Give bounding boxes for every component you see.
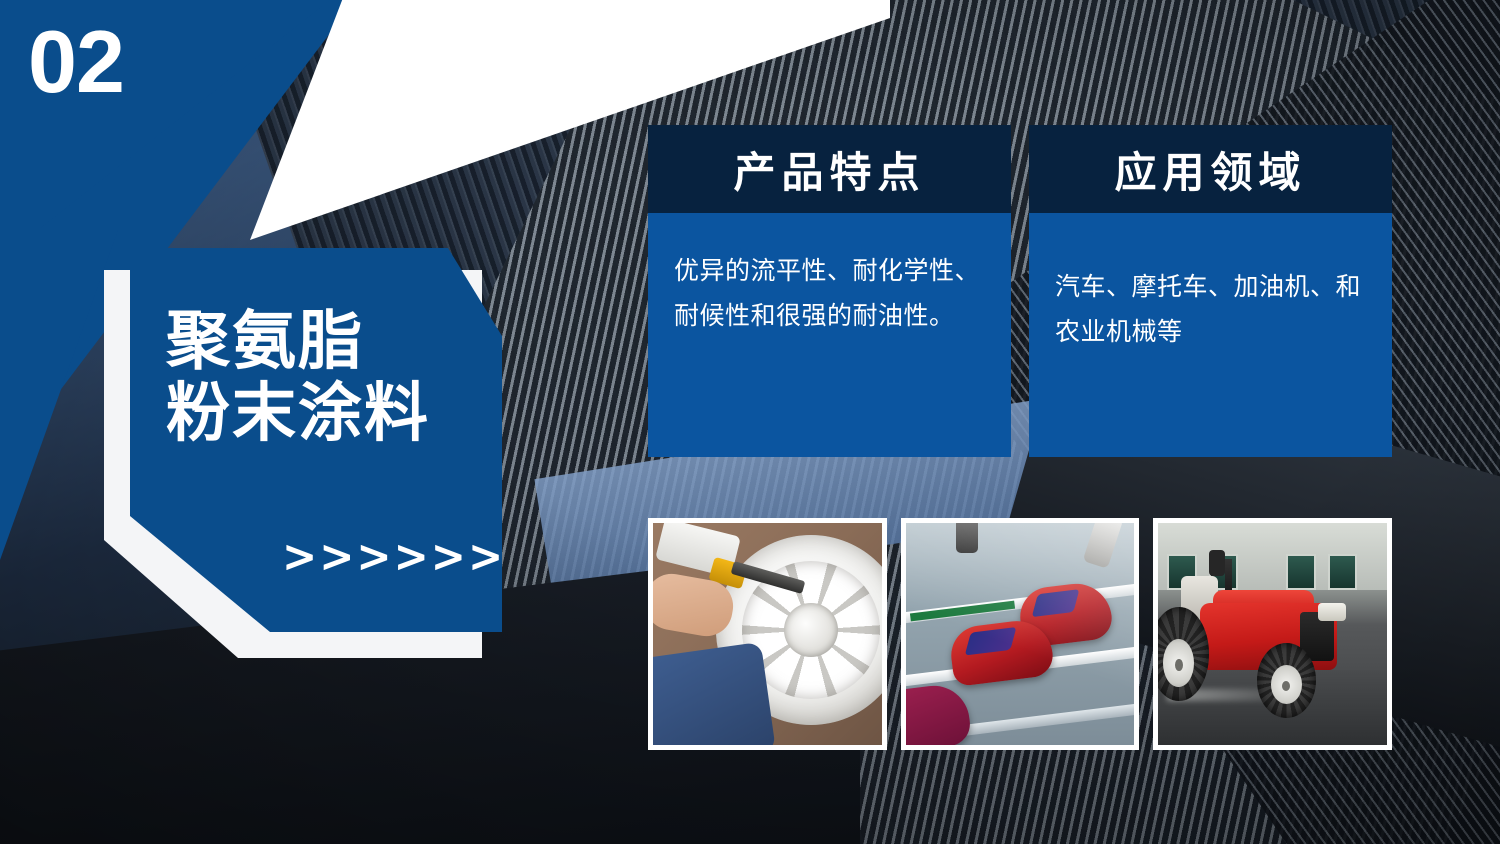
window <box>1328 554 1358 590</box>
column-header-label: 产品特点 <box>733 139 925 200</box>
info-columns: 产品特点 优异的流平性、耐化学性、耐候性和很强的耐油性。 应用领域 汽车、摩托车… <box>648 125 1392 457</box>
booth-haze <box>906 523 1135 745</box>
title-line-2: 粉末涂料 <box>166 378 486 450</box>
column-header-label: 应用领域 <box>1114 139 1306 200</box>
photo-strip <box>648 518 1392 750</box>
title-block: 聚氨脂 粉末涂料 >>>>>>>>> <box>104 248 514 658</box>
window <box>1286 554 1316 590</box>
photo-image <box>653 523 882 745</box>
info-column-application-areas: 应用领域 汽车、摩托车、加油机、和农业机械等 <box>1029 125 1392 457</box>
photo-powder-coating-alloy-wheel <box>648 518 887 750</box>
info-column-product-features: 产品特点 优异的流平性、耐化学性、耐候性和很强的耐油性。 <box>648 125 1011 457</box>
column-body-text: 汽车、摩托车、加油机、和农业机械等 <box>1055 265 1366 354</box>
photo-motorcycle-tank-coating-line <box>901 518 1140 750</box>
tractor-rim <box>1271 665 1302 704</box>
title-line-1: 聚氨脂 <box>166 305 364 377</box>
column-body-application-areas: 汽车、摩托车、加油机、和农业机械等 <box>1029 213 1392 457</box>
column-header-application-areas: 应用领域 <box>1029 125 1392 213</box>
tractor-front-tyre <box>1257 643 1316 718</box>
tractor-headlamp <box>1318 603 1345 621</box>
column-body-product-features: 优异的流平性、耐化学性、耐候性和很强的耐油性。 <box>648 213 1011 457</box>
presentation-slide: 02 聚氨脂 粉末涂料 >>>>>>>>> 产品特点 优异的流平性、耐化学性、耐… <box>0 0 1500 844</box>
column-body-text: 优异的流平性、耐化学性、耐候性和很强的耐油性。 <box>674 249 985 338</box>
tractor-mirror <box>1209 550 1225 576</box>
operator-sleeve <box>653 642 776 745</box>
section-number: 02 <box>28 18 124 106</box>
photo-image <box>906 523 1135 745</box>
tractor-rim <box>1163 639 1194 687</box>
column-header-product-features: 产品特点 <box>648 125 1011 213</box>
page-title: 聚氨脂 粉末涂料 <box>166 306 486 449</box>
photo-image <box>1158 523 1387 745</box>
photo-red-farm-tractor <box>1153 518 1392 750</box>
